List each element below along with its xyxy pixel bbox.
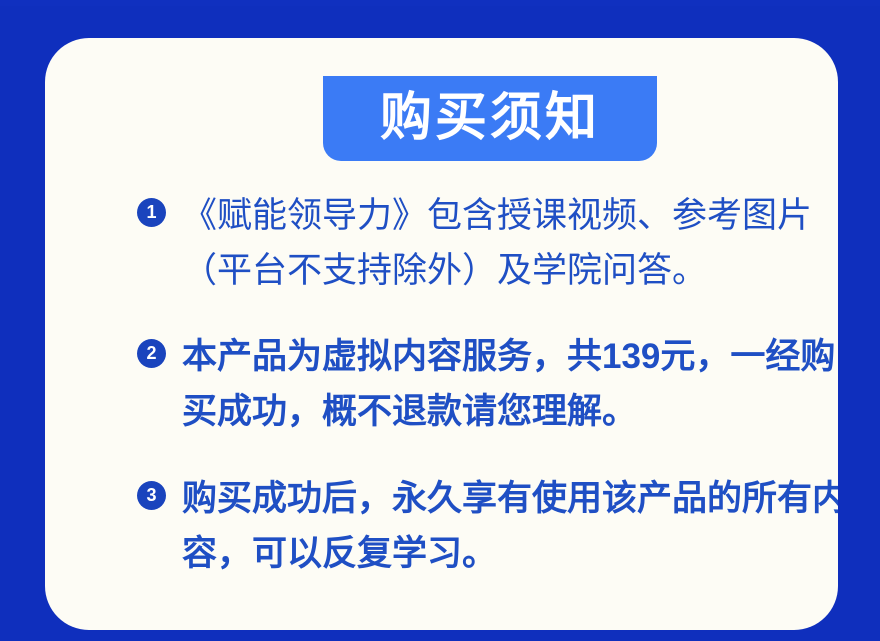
backdrop-top-band <box>0 0 880 6</box>
numbered-marker-icon: 3 <box>137 481 166 510</box>
purchase-notice-screen: 购买须知 1 《赋能领导力》包含授课视频、参考图片（平台不支持除外）及学院问答。… <box>0 0 880 641</box>
numbered-marker-icon: 2 <box>137 339 166 368</box>
notice-text: 购买成功后，永久享有使用该产品的所有内容，可以反复学习。 <box>182 471 838 582</box>
title-badge: 购买须知 <box>323 76 657 161</box>
notice-list: 1 《赋能领导力》包含授课视频、参考图片（平台不支持除外）及学院问答。 2 本产… <box>90 188 838 582</box>
page-title: 购买须知 <box>380 92 600 144</box>
notice-text: 《赋能领导力》包含授课视频、参考图片（平台不支持除外）及学院问答。 <box>182 188 838 299</box>
list-item: 1 《赋能领导力》包含授课视频、参考图片（平台不支持除外）及学院问答。 <box>90 188 838 299</box>
list-item: 3 购买成功后，永久享有使用该产品的所有内容，可以反复学习。 <box>90 471 838 582</box>
notice-card: 购买须知 1 《赋能领导力》包含授课视频、参考图片（平台不支持除外）及学院问答。… <box>45 38 838 630</box>
list-item: 2 本产品为虚拟内容服务，共139元，一经购买成功，概不退款请您理解。 <box>90 329 838 440</box>
numbered-marker-icon: 1 <box>137 198 166 227</box>
notice-text: 本产品为虚拟内容服务，共139元，一经购买成功，概不退款请您理解。 <box>182 329 838 440</box>
